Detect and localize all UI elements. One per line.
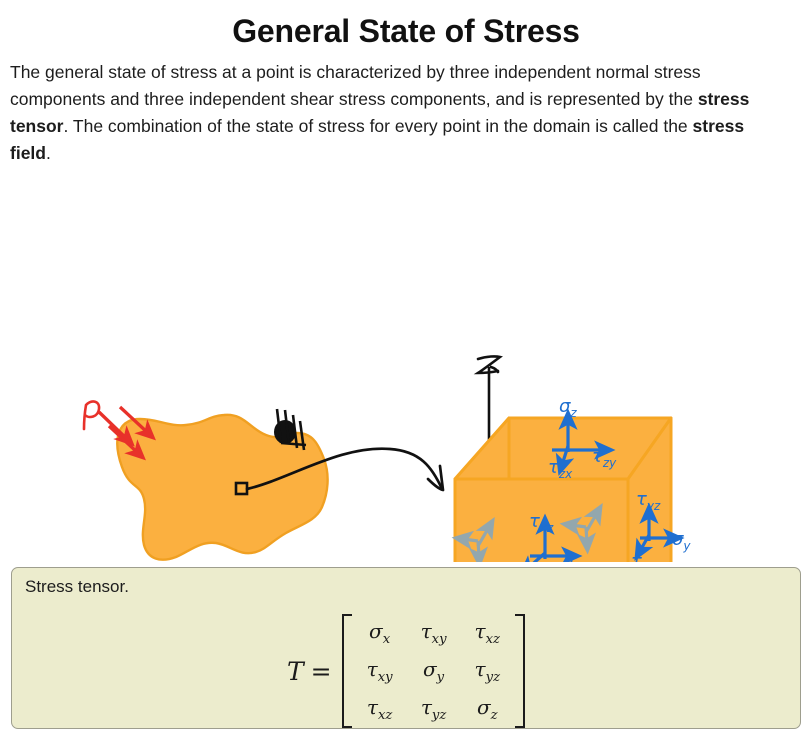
stress-tensor-matrix: σx τxy τxz τxy σy τyz τxz τyz σz: [353, 614, 514, 728]
distributed-load-label-p: [84, 402, 99, 429]
equation-lhs: T: [287, 657, 304, 686]
cell-1-0: τxy: [353, 652, 407, 690]
matrix-bracket-right: [514, 614, 525, 728]
diagram-canvas: σz τzy τzx τxz τxy σx τyz σy τyx: [0, 167, 812, 562]
matrix-bracket-left: [342, 614, 353, 728]
cell-0-0: σx: [353, 614, 407, 652]
cell-2-2: σz: [461, 690, 514, 728]
stress-tensor-callout: Stress tensor. T = σx τxy τxz τxy σy τyz…: [11, 567, 801, 729]
table-row: σx τxy τxz: [353, 614, 514, 652]
label-sigma-y: σy: [672, 529, 691, 553]
intro-paragraph: The general state of stress at a point i…: [0, 59, 812, 167]
general-state-of-stress-diagram: σz τzy τzx τxz τxy σx τyz σy τyx: [0, 167, 812, 562]
continuum-body-group: [84, 402, 443, 562]
table-row: τxy σy τyz: [353, 652, 514, 690]
point-of-interest-square: [236, 483, 247, 494]
table-row: τxz τyz σz: [353, 690, 514, 728]
cell-1-1: σy: [407, 652, 461, 690]
label-sigma-z: σz: [559, 396, 577, 420]
callout-title: Stress tensor.: [25, 576, 129, 598]
intro-text-2: . The combination of the state of stress…: [63, 116, 692, 136]
cell-2-0: τxz: [353, 690, 407, 728]
stress-cube-group: σz τzy τzx τxz τxy σx τyz σy τyx: [413, 357, 733, 563]
intro-text-3: .: [46, 143, 51, 163]
stress-tensor-equation: T = σx τxy τxz τxy σy τyz τxz τyz σz: [12, 614, 800, 728]
cell-1-2: τyz: [461, 652, 514, 690]
document-page: General State of Stress The general stat…: [0, 0, 812, 741]
cell-0-2: τxz: [461, 614, 514, 652]
equation-equals: =: [311, 657, 332, 686]
cell-0-1: τxy: [407, 614, 461, 652]
cell-2-1: τyz: [407, 690, 461, 728]
page-title: General State of Stress: [0, 0, 812, 59]
intro-text-1: The general state of stress at a point i…: [10, 62, 701, 109]
